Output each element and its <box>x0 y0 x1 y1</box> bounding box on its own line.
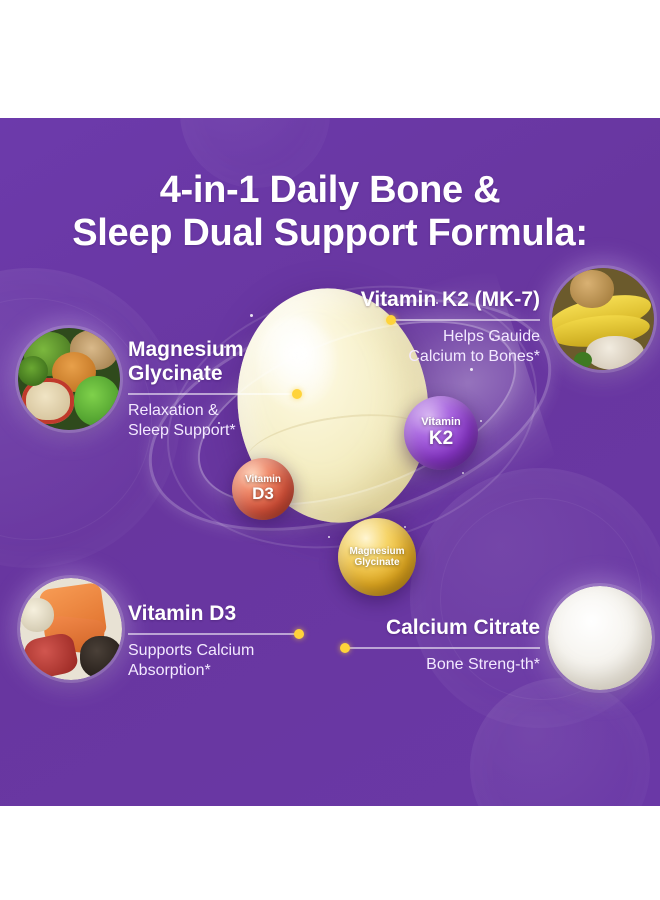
feature-title-line-1: Vitamin K2 (MK-7) <box>300 288 540 312</box>
connector-dot-icon <box>340 643 350 653</box>
product-infographic: 4-in-1 Daily Bone & Sleep Dual Support F… <box>0 0 660 900</box>
feature-desc-line-1: Bone Streng-th* <box>344 655 540 675</box>
feature-description: Supports Calcium Absorption* <box>128 641 300 681</box>
feature-description: Relaxation & Sleep Support* <box>128 401 298 441</box>
food-image-calcium-citrate <box>548 586 652 690</box>
feature-vitamin-d3: Vitamin D3 Supports Calcium Absorption* <box>128 602 300 681</box>
ingredient-orb-vitamin-k2: Vitamin K2 <box>404 396 478 470</box>
feature-divider <box>128 633 300 635</box>
food-image <box>548 586 652 690</box>
feature-desc-line-2: Sleep Support* <box>128 421 298 441</box>
feature-desc-line-1: Relaxation & <box>128 401 298 421</box>
orb-label-line-2: Glycinate <box>354 557 399 569</box>
feature-title: Magnesium Glycinate <box>128 338 298 386</box>
feature-desc-line-2: Calcium to Bones* <box>300 347 540 367</box>
page-title: 4-in-1 Daily Bone & Sleep Dual Support F… <box>0 169 660 255</box>
ingredient-orb-magnesium-glycinate: Magnesium Glycinate <box>338 518 416 596</box>
background-bubble <box>470 678 650 806</box>
food-image-magnesium-glycinate <box>18 328 120 430</box>
ingredient-orb-vitamin-d3: Vitamin D3 <box>232 458 294 520</box>
feature-desc-line-1: Supports Calcium <box>128 641 300 661</box>
feature-magnesium-glycinate: Magnesium Glycinate Relaxation & Sleep S… <box>128 338 298 441</box>
feature-desc-line-2: Absorption* <box>128 661 300 681</box>
feature-title: Vitamin D3 <box>128 602 300 626</box>
connector-dot-icon <box>294 629 304 639</box>
feature-title: Calcium Citrate <box>344 616 540 640</box>
orb-label-line-1: Magnesium <box>349 546 404 558</box>
connector-dot-icon <box>386 315 396 325</box>
feature-description: Helps Gauide Calcium to Bones* <box>300 327 540 367</box>
feature-description: Bone Streng-th* <box>344 655 540 675</box>
food-image-vitamin-k2 <box>552 268 654 370</box>
food-image <box>18 328 120 430</box>
feature-divider <box>390 319 540 321</box>
food-image-vitamin-d3 <box>20 578 122 680</box>
feature-vitamin-k2: Vitamin K2 (MK-7) Helps Gauide Calcium t… <box>300 288 540 367</box>
food-image <box>552 268 654 370</box>
page-title-line-1: 4-in-1 Daily Bone & <box>160 169 501 211</box>
page-title-line-2: Sleep Dual Support Formula: <box>0 212 660 255</box>
orb-label-line-2: D3 <box>252 485 274 503</box>
feature-divider <box>344 647 540 649</box>
feature-title: Vitamin K2 (MK-7) <box>300 288 540 312</box>
feature-title-line-1: Calcium Citrate <box>344 616 540 640</box>
feature-title-line-1: Magnesium <box>128 338 298 362</box>
food-image <box>20 578 122 680</box>
feature-title-line-1: Vitamin D3 <box>128 602 300 626</box>
connector-dot-icon <box>292 389 302 399</box>
feature-calcium-citrate: Calcium Citrate Bone Streng-th* <box>344 616 540 675</box>
feature-divider <box>128 393 298 395</box>
orb-label-line-2: K2 <box>429 429 453 449</box>
feature-desc-line-1: Helps Gauide <box>300 327 540 347</box>
feature-title-line-2: Glycinate <box>128 362 298 386</box>
